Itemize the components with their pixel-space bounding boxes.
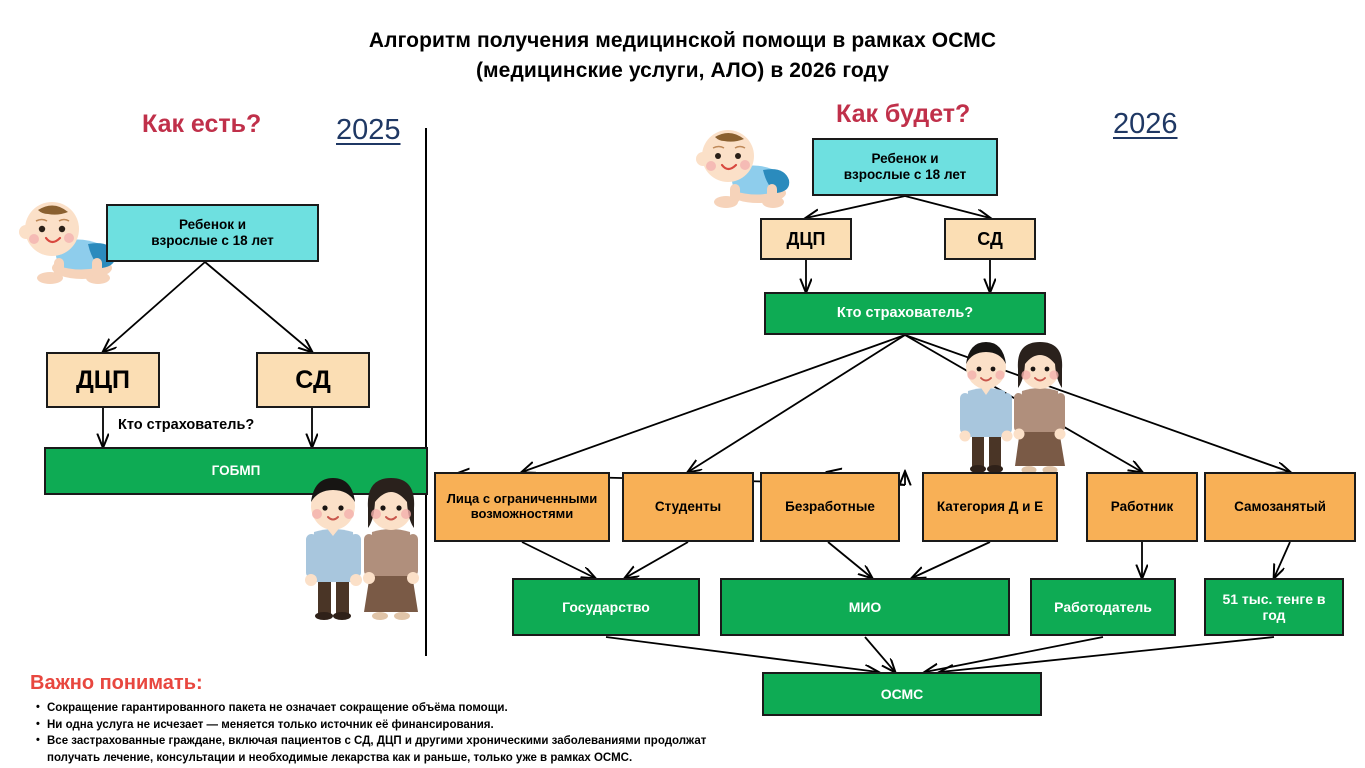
left-root-line-2: взрослые с 18 лет xyxy=(151,233,274,249)
left-panel-heading: Как есть? xyxy=(142,110,261,139)
page-title-line-1: Алгоритм получения медицинской помощи в … xyxy=(0,26,1365,56)
left-branch-sd: СД xyxy=(256,352,370,408)
right-root-line-2: взрослые с 18 лет xyxy=(844,167,967,183)
payer-box-state: Государство xyxy=(512,578,700,636)
adult-couple-icon xyxy=(292,470,424,628)
right-panel-year: 2026 xyxy=(1113,108,1178,141)
right-branch-sd: СД xyxy=(944,218,1036,260)
category-box-disabled: Лица с ограниченными возможностями xyxy=(434,472,610,542)
category-box-self-employed: Самозанятый xyxy=(1204,472,1356,542)
left-panel-year: 2025 xyxy=(336,114,401,147)
footer-bullet-1: Сокращение гарантированного пакета не оз… xyxy=(34,700,914,717)
left-question-label: Кто страхователь? xyxy=(118,417,254,433)
category-box-employee: Работник xyxy=(1086,472,1198,542)
left-root-box: Ребенок и взрослые с 18 лет xyxy=(106,204,319,262)
left-root-line-1: Ребенок и xyxy=(151,217,274,233)
payer-box-mio: МИО xyxy=(720,578,1010,636)
right-panel-heading: Как будет? xyxy=(836,100,970,129)
right-branch-dcp: ДЦП xyxy=(760,218,852,260)
page-title: Алгоритм получения медицинской помощи в … xyxy=(0,26,1365,86)
footer-heading: Важно понимать: xyxy=(30,672,203,695)
baby-crawling-icon xyxy=(692,124,796,212)
payer-box-annual-fee: 51 тыс. тенге в год xyxy=(1204,578,1344,636)
right-root-line-1: Ребенок и xyxy=(844,151,967,167)
footer-bullet-3: Все застрахованные граждане, включая пац… xyxy=(34,733,914,750)
category-box-students: Студенты xyxy=(622,472,754,542)
right-question-box: Кто страхователь? xyxy=(764,292,1046,335)
category-box-unemployed: Безработные xyxy=(760,472,900,542)
page-title-line-2: (медицинские услуги, АЛО) в 2026 году xyxy=(0,56,1365,86)
left-branch-dcp: ДЦП xyxy=(46,352,160,408)
footer-bullet-2: Ни одна услуга не исчезает — меняется то… xyxy=(34,717,914,734)
right-root-box: Ребенок и взрослые с 18 лет xyxy=(812,138,998,196)
panel-divider xyxy=(425,128,427,656)
payer-box-employer: Работодатель xyxy=(1030,578,1176,636)
footer-bullet-list: Сокращение гарантированного пакета не оз… xyxy=(34,700,914,766)
adult-couple-icon xyxy=(948,334,1070,480)
footer-bullet-3-continued: получать лечение, консультации и необход… xyxy=(34,750,914,767)
category-box-category-d-e: Категория Д и Е xyxy=(922,472,1058,542)
